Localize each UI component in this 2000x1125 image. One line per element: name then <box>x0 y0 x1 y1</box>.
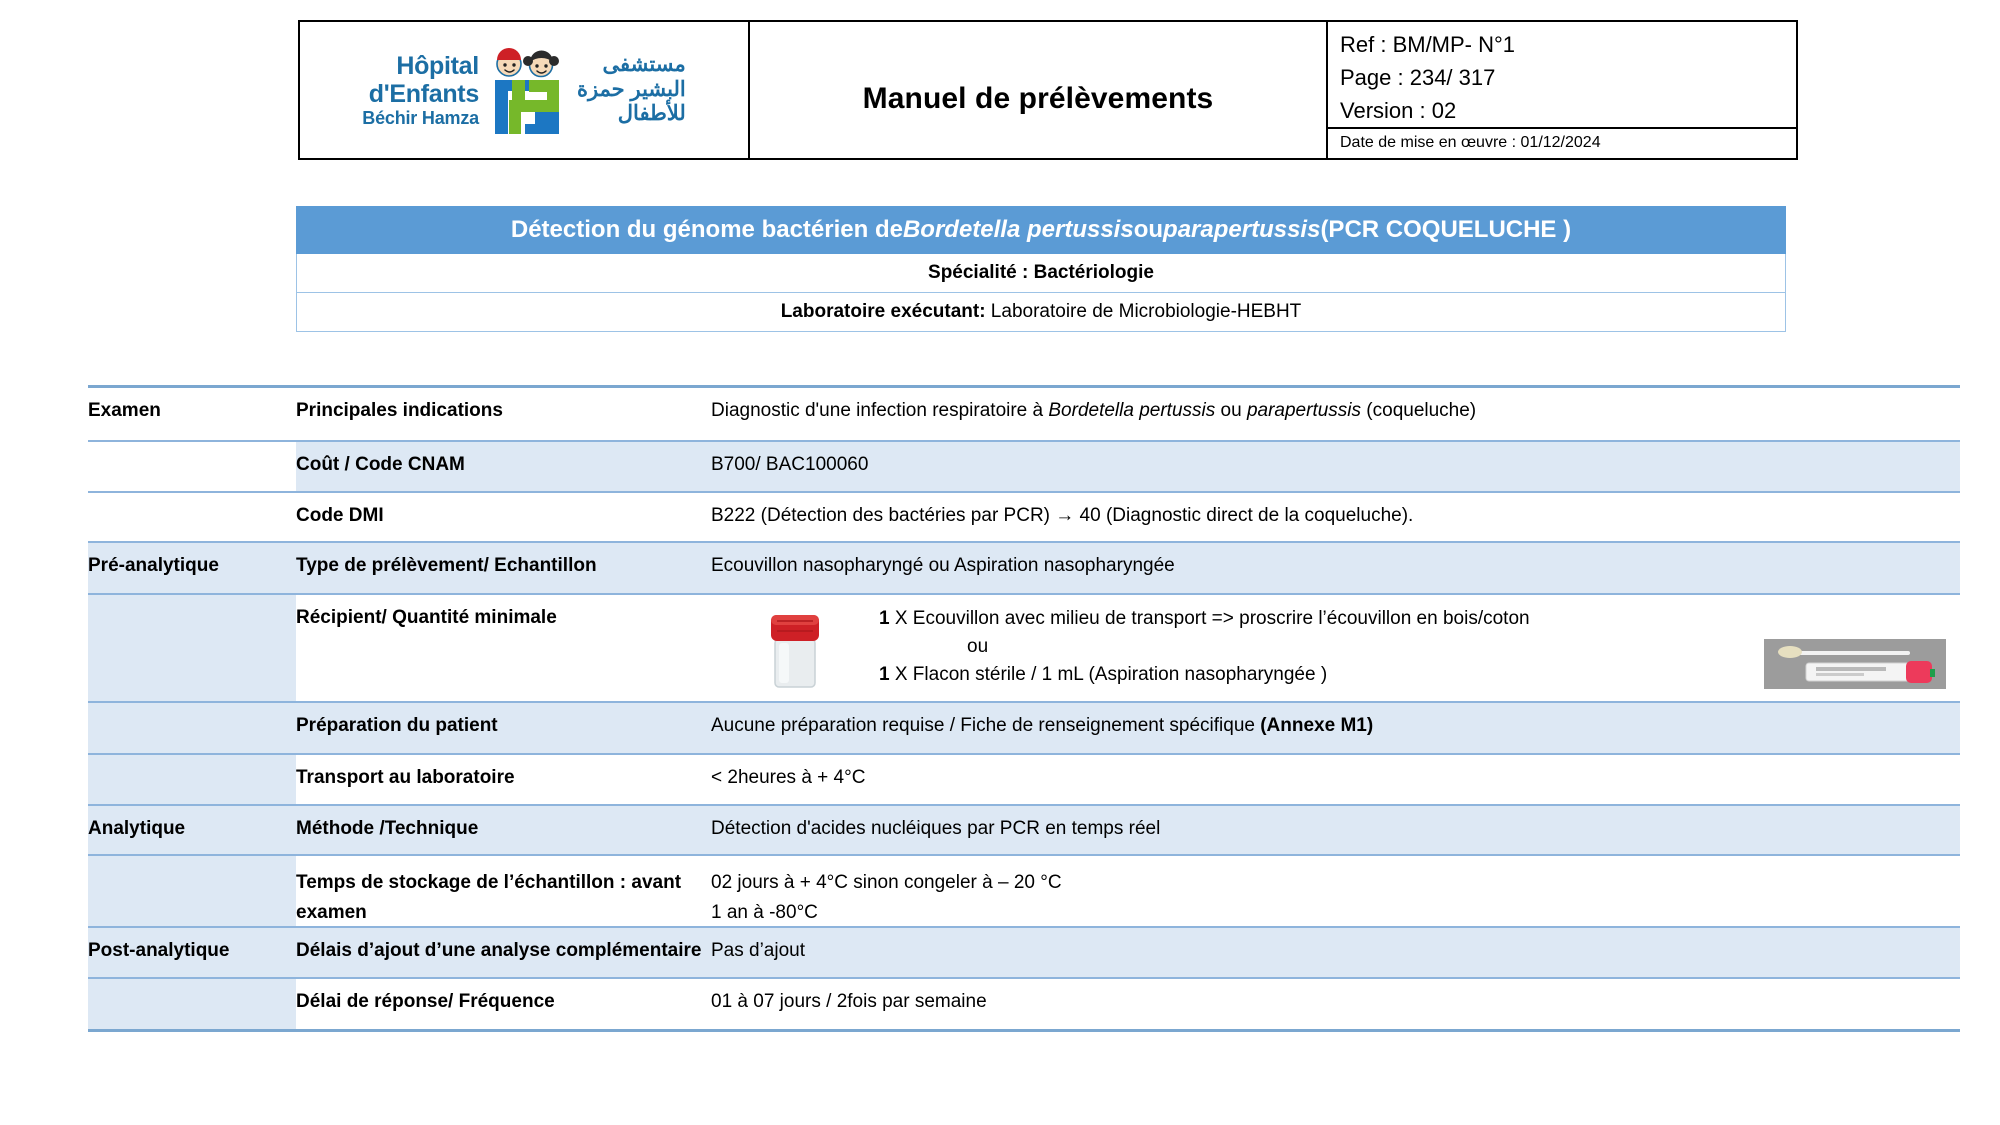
row-label-delai-reponse: Délai de réponse/ Fréquence <box>296 979 711 1029</box>
logo-line-denfants: d'Enfants <box>362 80 479 108</box>
document-title: Manuel de prélèvements <box>863 82 1214 116</box>
specialite-row: Spécialité : Bactériologie <box>296 254 1786 293</box>
logo-arabic-text: مستشفى البشير حمزة للأطفال <box>577 53 686 127</box>
row-value-transport: < 2heures à + 4°C <box>711 755 1960 804</box>
category-spacer <box>88 595 296 701</box>
category-examen: Examen <box>88 388 296 440</box>
exam-title-banner: Détection du génome bactérien de Bordete… <box>296 206 1786 254</box>
recipient-line-2: 1 X Flacon stérile / 1 mL (Aspiration na… <box>879 661 1764 689</box>
recipient-text-2: X Flacon stérile / 1 mL (Aspiration naso… <box>890 664 1328 685</box>
code-dmi-pre: B222 (Détection des bactéries par PCR) <box>711 505 1055 526</box>
recipient-qty-2: 1 <box>879 664 890 685</box>
table-row: Pré-analytique Type de prélèvement/ Echa… <box>88 543 1960 595</box>
specimen-jar-icon <box>763 609 827 691</box>
laboratoire-row: Laboratoire exécutant: Laboratoire de Mi… <box>296 293 1786 332</box>
row-label-indications: Principales indications <box>296 388 711 440</box>
table-row: Préparation du patient Aucune préparatio… <box>88 703 1960 755</box>
table-row: Coût / Code CNAM B700/ BAC100060 <box>88 442 1960 493</box>
banner-species-1: Bordetella pertussis <box>903 216 1134 244</box>
stockage-value-line-2: 1 an à -80°C <box>711 898 1950 928</box>
preparation-annexe: (Annexe M1) <box>1260 715 1373 736</box>
specialite-label: Spécialité : Bactériologie <box>928 262 1154 284</box>
category-analytique: Analytique <box>88 806 296 854</box>
specimen-jar-cell <box>711 595 879 701</box>
arrow-icon: → <box>1055 505 1074 526</box>
hospital-logo-cell: Hôpital d'Enfants Béchir Hamza <box>300 22 750 158</box>
category-spacer <box>88 442 296 491</box>
recipient-text-1: X Ecouvillon avec milieu de transport =>… <box>890 608 1530 629</box>
stockage-label-line-1: Temps de stockage de l’échantillon : ava… <box>296 868 703 928</box>
metadata-ref: Ref : BM/MP- N°1 <box>1340 28 1796 61</box>
category-post-analytique: Post-analytique <box>88 928 296 977</box>
row-label-preparation: Préparation du patient <box>296 703 711 753</box>
logo-line-bechir-hamza: Béchir Hamza <box>362 108 479 128</box>
row-value-stockage: 02 jours à + 4°C sinon congeler à – 20 °… <box>711 856 1960 926</box>
category-spacer <box>88 979 296 1029</box>
transport-swab-cell <box>1764 595 1960 701</box>
banner-prefix: Détection du génome bactérien de <box>511 216 903 244</box>
banner-suffix: (PCR COQUELUCHE ) <box>1320 216 1571 244</box>
stockage-value-line-1: 02 jours à + 4°C sinon congeler à – 20 °… <box>711 868 1950 898</box>
row-value-indications: Diagnostic d'une infection respiratoire … <box>711 388 1960 440</box>
indications-post: (coqueluche) <box>1361 400 1476 421</box>
category-spacer <box>88 493 296 541</box>
row-label-delais-ajout: Délais d’ajout d’une analyse complémenta… <box>296 928 711 977</box>
category-spacer <box>88 856 296 926</box>
table-row: Récipient/ Quantité minimale 1 X Ecouvil… <box>88 595 1960 703</box>
banner-species-2: parapertussis <box>1163 216 1320 244</box>
logo-arabic-line2: البشير حمزة <box>577 78 686 103</box>
exam-title-block: Détection du génome bactérien de Bordete… <box>296 206 1786 332</box>
indications-pre: Diagnostic d'une infection respiratoire … <box>711 400 1048 421</box>
table-row: Délai de réponse/ Fréquence 01 à 07 jour… <box>88 979 1960 1029</box>
metadata-page: Page : 234/ 317 <box>1340 61 1796 94</box>
row-label-recipient: Récipient/ Quantité minimale <box>296 595 711 701</box>
laboratoire-value: Laboratoire de Microbiologie-HEBHT <box>986 301 1302 322</box>
row-label-methode: Méthode /Technique <box>296 806 711 854</box>
exam-details-table: Examen Principales indications Diagnosti… <box>88 385 1960 1032</box>
metadata-date: Date de mise en œuvre : 01/12/2024 <box>1328 129 1796 158</box>
code-dmi-post: 40 (Diagnostic direct de la coqueluche). <box>1074 505 1413 526</box>
table-row: Temps de stockage de l’échantillon : ava… <box>88 856 1960 928</box>
table-row: Code DMI B222 (Détection des bactéries p… <box>88 493 1960 543</box>
hospital-logo: Hôpital d'Enfants Béchir Hamza <box>362 44 685 136</box>
document-title-cell: Manuel de prélèvements <box>750 22 1328 158</box>
recipient-lines: 1 X Ecouvillon avec milieu de transport … <box>879 595 1764 701</box>
transport-swab-icon <box>1764 639 1946 695</box>
category-spacer <box>88 755 296 804</box>
indications-species-1: Bordetella pertussis <box>1048 400 1215 421</box>
row-value-cout: B700/ BAC100060 <box>711 442 1960 491</box>
table-row: Post-analytique Délais d’ajout d’une ana… <box>88 928 1960 979</box>
row-label-cout: Coût / Code CNAM <box>296 442 711 491</box>
banner-mid: ou <box>1134 216 1163 244</box>
metadata-version: Version : 02 <box>1340 94 1796 127</box>
row-value-code-dmi: B222 (Détection des bactéries par PCR) →… <box>711 493 1960 541</box>
recipient-or: ou <box>879 633 1764 661</box>
document-metadata-cell: Ref : BM/MP- N°1 Page : 234/ 317 Version… <box>1328 22 1796 158</box>
table-row: Examen Principales indications Diagnosti… <box>88 388 1960 442</box>
row-label-type-prelevement: Type de prélèvement/ Echantillon <box>296 543 711 593</box>
category-pre-analytique: Pré-analytique <box>88 543 296 593</box>
row-value-delai-reponse: 01 à 07 jours / 2fois par semaine <box>711 979 1960 1029</box>
row-value-preparation: Aucune préparation requise / Fiche de re… <box>711 703 1960 753</box>
logo-french-text: Hôpital d'Enfants Béchir Hamza <box>362 52 479 128</box>
row-value-recipient: 1 X Ecouvillon avec milieu de transport … <box>711 595 1960 701</box>
document-page: Hôpital d'Enfants Béchir Hamza <box>0 0 2000 1125</box>
indications-species-2: parapertussis <box>1247 400 1361 421</box>
recipient-qty-1: 1 <box>879 608 890 629</box>
row-label-code-dmi: Code DMI <box>296 493 711 541</box>
table-row: Analytique Méthode /Technique Détection … <box>88 806 1960 856</box>
row-value-delais-ajout: Pas d’ajout <box>711 928 1960 977</box>
hospital-emblem-icon <box>485 44 571 136</box>
recipient-line-1: 1 X Ecouvillon avec milieu de transport … <box>879 605 1764 633</box>
indications-mid: ou <box>1215 400 1247 421</box>
document-header: Hôpital d'Enfants Béchir Hamza <box>298 20 1798 160</box>
logo-arabic-line1: مستشفى <box>577 53 686 78</box>
row-label-stockage: Temps de stockage de l’échantillon : ava… <box>296 856 711 926</box>
preparation-pre: Aucune préparation requise / Fiche de re… <box>711 715 1260 736</box>
logo-arabic-line3: للأطفال <box>577 102 686 127</box>
row-value-type-prelevement: Ecouvillon nasopharyngé ou Aspiration na… <box>711 543 1960 593</box>
row-value-methode: Détection d'acides nucléiques par PCR en… <box>711 806 1960 854</box>
table-row: Transport au laboratoire < 2heures à + 4… <box>88 755 1960 806</box>
laboratoire-label: Laboratoire exécutant: <box>781 301 986 322</box>
logo-line-hopital: Hôpital <box>362 52 479 80</box>
row-label-transport: Transport au laboratoire <box>296 755 711 804</box>
category-spacer <box>88 703 296 753</box>
metadata-top: Ref : BM/MP- N°1 Page : 234/ 317 Version… <box>1328 22 1796 129</box>
